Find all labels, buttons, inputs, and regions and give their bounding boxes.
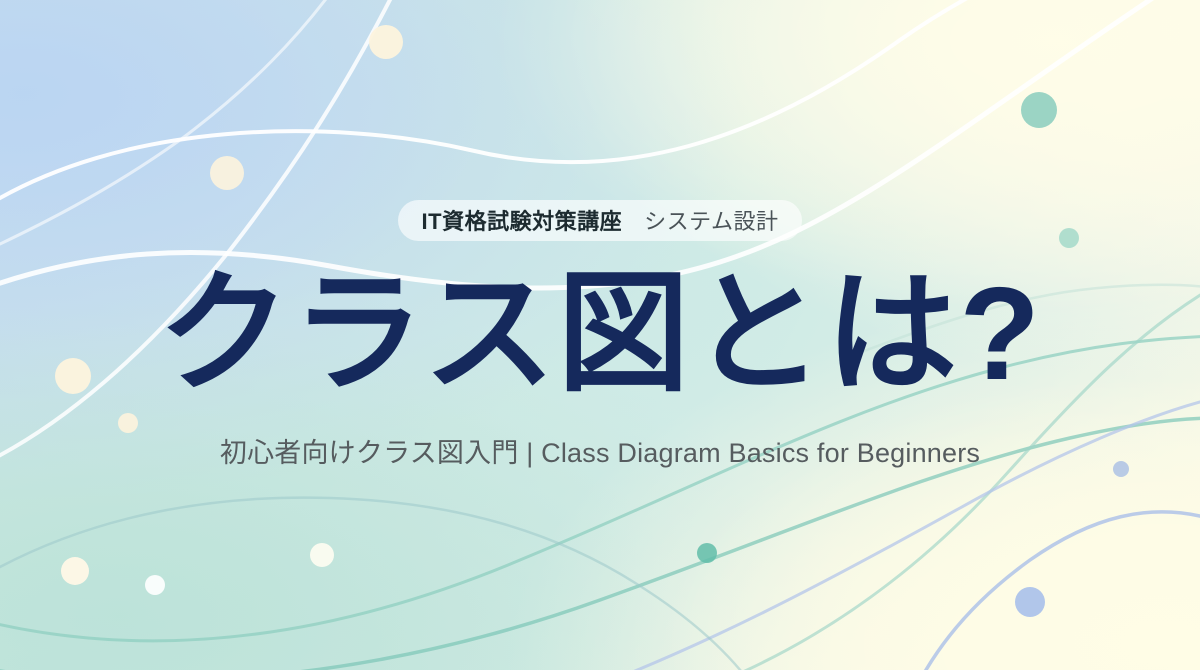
badge-secondary-label: システム設計	[644, 204, 778, 236]
category-badge: IT資格試験対策講座 システム設計	[398, 200, 803, 241]
hero-content: IT資格試験対策講座 システム設計 クラス図とは? 初心者向けクラス図入門 | …	[0, 0, 1200, 670]
hero-banner: IT資格試験対策講座 システム設計 クラス図とは? 初心者向けクラス図入門 | …	[0, 0, 1200, 670]
page-subtitle: 初心者向けクラス図入門 | Class Diagram Basics for B…	[220, 431, 980, 470]
page-title: クラス図とは?	[158, 267, 1042, 402]
badge-primary-label: IT資格試験対策講座	[422, 204, 623, 236]
